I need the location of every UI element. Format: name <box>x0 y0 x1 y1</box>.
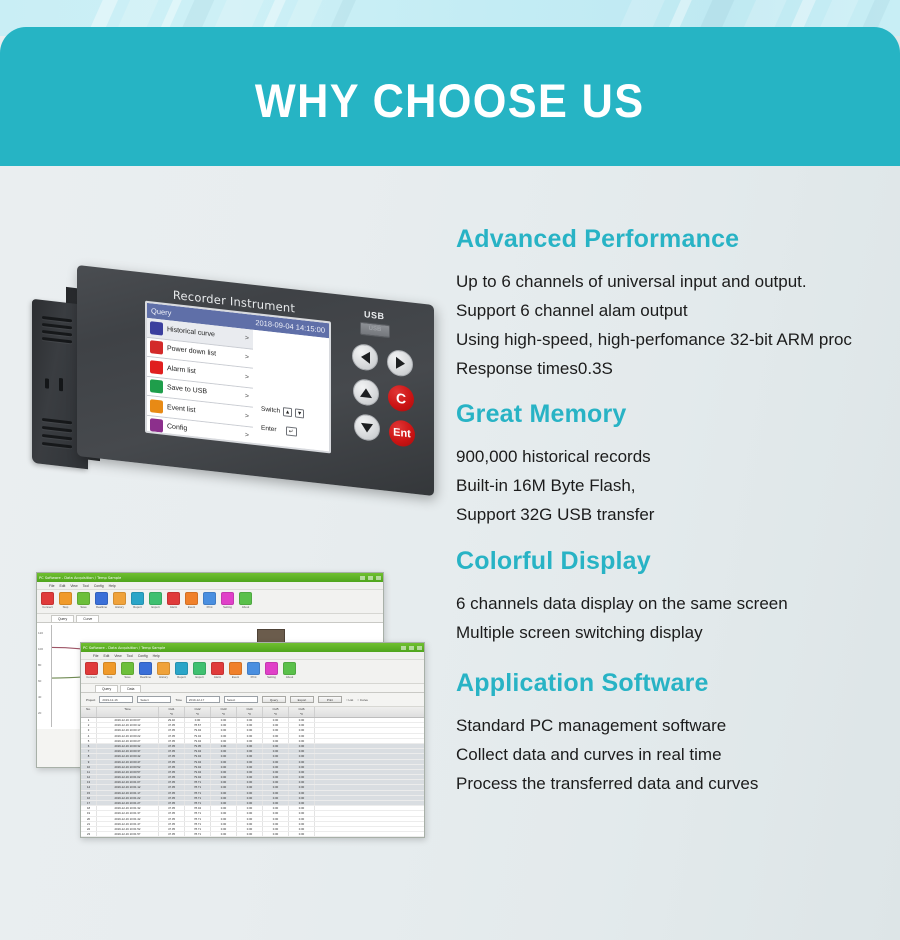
feature-line: Multiple screen switching display <box>456 618 886 647</box>
data-grid-cell: 0.00 <box>237 760 263 764</box>
vent-slot <box>42 337 72 343</box>
vent-slot <box>42 418 72 424</box>
filter-label: Time <box>175 698 182 702</box>
toolbar-button-setting[interactable]: Setting <box>220 592 235 610</box>
lcd-hint-enter-label: Enter <box>261 425 277 434</box>
grid-column-header[interactable]: No. <box>81 707 97 717</box>
toolbar-button-save[interactable]: Save <box>120 662 135 680</box>
data-grid-cell: 2019-12-16 10:01:27 <box>97 801 159 805</box>
report-icon <box>131 592 144 605</box>
data-grid-cell: 0.00 <box>211 801 237 805</box>
data-grid-cell: 0.00 <box>263 832 289 836</box>
device-front-panel: Recorder Instrument USB USB Query 2018-0… <box>77 265 434 496</box>
data-grid-cell: 0.00 <box>263 806 289 810</box>
data-grid-cell: 0.00 <box>289 832 315 836</box>
data-grid-cell: 47.05 <box>159 734 185 738</box>
data-grid-cell: 2019-12-16 10:01:07 <box>97 780 159 784</box>
device-port <box>59 378 63 391</box>
cancel-button-label: C <box>396 390 406 407</box>
data-grid-cell: 0.00 <box>289 749 315 753</box>
data-grid-cell: 0.00 <box>263 770 289 774</box>
data-grid-cell: 0.00 <box>237 796 263 800</box>
data-grid-cell: 47.05 <box>159 749 185 753</box>
data-grid-cell: 5 <box>81 739 97 743</box>
right-arrow-icon <box>396 357 405 370</box>
toolbar-button-label: Alarm <box>210 675 225 680</box>
filter-button-export[interactable]: Export <box>290 696 314 703</box>
usb-label: USB <box>364 309 385 321</box>
data-grid-cell: 0.00 <box>289 785 315 789</box>
stop-icon <box>59 592 72 605</box>
data-grid-cell: 0.00 <box>289 775 315 779</box>
data-grid-cell: 11 <box>81 770 97 774</box>
data-grid-cell: 47.05 <box>159 765 185 769</box>
tab-curve[interactable]: Curve <box>76 615 99 622</box>
key-enter: ↵ <box>286 426 297 436</box>
menu-item-config[interactable]: Config <box>94 584 104 588</box>
menu-item-help[interactable]: Help <box>153 654 160 658</box>
toolbar-button-label: Report <box>174 675 189 680</box>
vent-slot <box>42 316 72 322</box>
grid-column-header[interactable]: CH6℃ <box>289 707 315 717</box>
data-grid-cell: 0.00 <box>289 822 315 826</box>
data-grid-cell: 0.00 <box>289 791 315 795</box>
up-arrow-icon <box>360 387 372 397</box>
recorder-device-image: Recorder Instrument USB USB Query 2018-0… <box>22 283 434 483</box>
grid-column-header[interactable]: CH4℃ <box>237 707 263 717</box>
lcd-hint-switch: Switch ▲ ▼ <box>261 405 304 419</box>
toolbar-button-connect[interactable]: Connect <box>84 662 99 680</box>
left-arrow-icon <box>361 351 370 364</box>
feature-line: Response times0.3S <box>456 354 886 383</box>
toolbar-button-label: Report <box>130 605 145 610</box>
tab-query[interactable]: Query <box>51 615 74 622</box>
key-up: ▲ <box>283 407 292 417</box>
toolbar-button-report[interactable]: Report <box>130 592 145 610</box>
data-grid-cell: 0.00 <box>289 739 315 743</box>
window-toolbar[interactable]: ConnectStopSaveRealtimeHistoryReportExpo… <box>37 590 383 614</box>
minimize-icon[interactable] <box>360 576 365 580</box>
grid-column-header[interactable]: CH3℃ <box>211 707 237 717</box>
data-grid-cell: 0.00 <box>263 739 289 743</box>
data-grid-cell: 47.05 <box>159 801 185 805</box>
toolbar-button-realtime[interactable]: Realtime <box>94 592 109 610</box>
toolbar-button-history[interactable]: History <box>156 662 171 680</box>
data-grid-cell: 0.00 <box>237 785 263 789</box>
data-grid-cell: 0.00 <box>263 822 289 826</box>
data-grid-cell: 0.00 <box>211 806 237 810</box>
data-grid-cell: 0.00 <box>211 749 237 753</box>
lcd-menu-item-label: Power down list <box>167 345 245 361</box>
data-grid-cell: 20 <box>81 817 97 821</box>
data-grid-cell: 79.04 <box>185 770 211 774</box>
filter-select[interactable]: Select <box>224 696 258 703</box>
data-grid-cell: 78.71 <box>185 780 211 784</box>
data-grid-cell: 0.00 <box>237 718 263 722</box>
data-grid-cell: 0.00 <box>289 754 315 758</box>
lcd-body: Historical curve>Power down list>Alarm l… <box>147 318 329 454</box>
right-arrow-button[interactable] <box>387 349 413 378</box>
minimize-icon[interactable] <box>401 646 406 650</box>
window-tabs[interactable]: QueryData <box>81 684 424 693</box>
toolbar-button-export[interactable]: Export <box>148 592 163 610</box>
data-grid-cell: 2019-12-16 10:02:02 <box>97 837 159 838</box>
feature-block-colorful-display: Colorful Display 6 channels data display… <box>456 547 886 647</box>
data-grid-cell: 0.00 <box>211 822 237 826</box>
data-grid-cell: 0.00 <box>263 718 289 722</box>
up-arrow-button[interactable] <box>353 378 379 407</box>
toolbar-button-label: Print <box>202 605 217 610</box>
data-grid-cell: 0.00 <box>289 780 315 784</box>
data-grid-cell: 0.00 <box>237 827 263 831</box>
query-filter-bar[interactable]: Project2019-12-16SelectTime2019-12-17Sel… <box>81 693 424 707</box>
toolbar-button-label: Stop <box>102 675 117 680</box>
toolbar-button-label: About <box>238 605 253 610</box>
data-grid-cell: 0.00 <box>211 817 237 821</box>
data-grid-cell: 0.00 <box>263 827 289 831</box>
data-grid-cell: 0.00 <box>211 791 237 795</box>
data-grid-cell: 0.00 <box>211 811 237 815</box>
toolbar-button-label: Setting <box>220 605 235 610</box>
data-grid-cell: 0.00 <box>263 785 289 789</box>
down-arrow-button[interactable] <box>354 413 380 442</box>
data-grid-cell: 79.04 <box>185 775 211 779</box>
data-grid-cell: 0.00 <box>211 775 237 779</box>
feature-title: Application Software <box>456 669 886 698</box>
data-grid-cell: 79.05 <box>185 744 211 748</box>
feature-line: Built-in 16M Byte Flash, <box>456 471 886 500</box>
lcd-menu-item-label: Alarm list <box>167 365 245 381</box>
data-grid-cell: 47.05 <box>159 775 185 779</box>
window-tabs[interactable]: QueryCurve <box>37 614 383 623</box>
data-grid-cell: 0.00 <box>237 744 263 748</box>
data-grid-cell: 47.05 <box>159 760 185 764</box>
toolbar-button-label: Print <box>246 675 261 680</box>
data-grid-cell: 2019-12-16 10:00:22 <box>97 734 159 738</box>
menu-item-file[interactable]: File <box>49 584 54 588</box>
software-screenshots: PC Software - Data Acquisition / Temp Sa… <box>36 572 426 840</box>
data-grid-cell: 29.40 <box>159 718 185 722</box>
data-grid-cell: 0.00 <box>237 791 263 795</box>
data-grid-header: No.TimeCH1℃CH2℃CH3℃CH4℃CH5℃CH6℃ <box>81 707 424 718</box>
filter-button-query[interactable]: Query <box>262 696 286 703</box>
data-grid-row[interactable]: 242019-12-16 10:02:0247.0578.710.000.000… <box>81 837 424 838</box>
close-icon[interactable] <box>417 646 422 650</box>
enter-button[interactable]: Ent <box>389 419 415 448</box>
chart-y-tick: 60 <box>38 679 41 683</box>
data-grid-cell: 13 <box>81 780 97 784</box>
data-grid-cell: 0.00 <box>237 780 263 784</box>
toolbar-button-print[interactable]: Print <box>202 592 217 610</box>
data-grid-cell: 47.05 <box>159 837 185 838</box>
filter-select[interactable]: 2019-12-16 <box>99 696 133 703</box>
data-grid-cell: 0.00 <box>211 780 237 784</box>
menu-item-view[interactable]: View <box>70 584 77 588</box>
chart-y-axis: 12010080604020 <box>37 623 50 729</box>
history-icon <box>157 662 170 675</box>
save-icon <box>121 662 134 675</box>
data-grid-body[interactable]: 12019-12-16 10:00:0729.400.000.000.000.0… <box>81 718 424 838</box>
lcd-menu-item-label: Historical curve <box>167 326 245 342</box>
data-grid-cell: 0.00 <box>237 754 263 758</box>
toolbar-button-setting[interactable]: Setting <box>264 662 279 680</box>
window-titlebar: PC Software - Data Acquisition / Temp Sa… <box>81 643 424 652</box>
lcd-menu-list: Historical curve>Power down list>Alarm l… <box>147 318 253 447</box>
data-grid-cell: 0.00 <box>237 822 263 826</box>
data-grid-cell: 19 <box>81 811 97 815</box>
data-grid-cell: 0.00 <box>263 801 289 805</box>
data-grid-cell: 0.00 <box>237 749 263 753</box>
data-grid-cell: 0.00 <box>211 837 237 838</box>
toolbar-button-realtime[interactable]: Realtime <box>138 662 153 680</box>
window-controls[interactable] <box>401 646 422 650</box>
lcd-menu-item-label: Save to USB <box>167 384 245 400</box>
data-grid-cell: 0.00 <box>263 723 289 727</box>
data-grid-cell: 79.04 <box>185 765 211 769</box>
data-grid-cell: 78.71 <box>185 827 211 831</box>
data-grid-cell: 0.00 <box>211 739 237 743</box>
data-grid-cell: 47.05 <box>159 744 185 748</box>
data-grid-cell: 17 <box>81 801 97 805</box>
alarm-icon <box>167 592 180 605</box>
toolbar-button-label: Alarm <box>166 605 181 610</box>
event-icon <box>185 592 198 605</box>
grid-column-header[interactable]: CH2℃ <box>185 707 211 717</box>
data-grid-cell: 79.04 <box>185 734 211 738</box>
data-grid-cell: 1 <box>81 718 97 722</box>
window-toolbar[interactable]: ConnectStopSaveRealtimeHistoryReportExpo… <box>81 660 424 684</box>
data-grid-cell: 47.05 <box>159 785 185 789</box>
menu-item-view[interactable]: View <box>114 654 121 658</box>
data-grid-cell: 2019-12-16 10:01:37 <box>97 811 159 815</box>
filter-select[interactable]: Select <box>137 696 171 703</box>
chevron-right-icon: > <box>245 432 253 440</box>
data-grid-cell: 2019-12-16 10:00:07 <box>97 718 159 722</box>
menu-item-edit[interactable]: Edit <box>59 584 65 588</box>
data-grid-cell: 3 <box>81 728 97 732</box>
toolbar-button-export[interactable]: Export <box>192 662 207 680</box>
grid-column-header[interactable]: Time <box>97 707 159 717</box>
toolbar-button-about[interactable]: About <box>282 662 297 680</box>
data-grid-cell: 0.00 <box>263 754 289 758</box>
data-grid-cell: 23 <box>81 832 97 836</box>
data-grid-cell: 15 <box>81 791 97 795</box>
export-icon <box>149 592 162 605</box>
data-grid-cell: 47.05 <box>159 754 185 758</box>
feature-title: Great Memory <box>456 400 886 429</box>
chart-y-tick: 40 <box>38 695 41 699</box>
feature-line: Support 6 channel alam output <box>456 296 886 325</box>
print-icon <box>247 662 260 675</box>
data-grid-cell: 0.00 <box>211 754 237 758</box>
data-grid-cell: 0.00 <box>237 775 263 779</box>
maximize-icon[interactable] <box>409 646 414 650</box>
grid-column-header[interactable]: CH1℃ <box>159 707 185 717</box>
data-grid-cell: 9 <box>81 760 97 764</box>
toolbar-button-label: Realtime <box>138 675 153 680</box>
menu-item-config[interactable]: Config <box>138 654 148 658</box>
lcd-right-pane: Switch ▲ ▼ Enter ↵ <box>253 330 329 454</box>
page-title: WHY CHOOSE US <box>255 69 645 124</box>
chart-y-tick: 120 <box>38 631 43 635</box>
data-grid-cell: 2019-12-16 10:00:52 <box>97 765 159 769</box>
data-grid-cell: 0.00 <box>263 749 289 753</box>
menu-item-file[interactable]: File <box>93 654 98 658</box>
window-title: PC Software - Data Acquisition / Temp Sa… <box>39 576 121 580</box>
data-grid-cell: 2019-12-16 10:00:32 <box>97 744 159 748</box>
down-arrow-icon <box>361 422 373 432</box>
toolbar-button-about[interactable]: About <box>238 592 253 610</box>
data-grid-cell: 78.71 <box>185 811 211 815</box>
usb-save-icon <box>150 379 163 393</box>
data-grid-cell: 0.00 <box>237 723 263 727</box>
toolbar-button-label: Save <box>120 675 135 680</box>
device-lcd-screen: Query 2018-09-04 14:15:00 Historical cur… <box>145 301 331 454</box>
window-menubar[interactable]: FileEditViewToolConfigHelp <box>81 652 424 660</box>
toolbar-button-event[interactable]: Event <box>228 662 243 680</box>
data-grid-cell: 0.00 <box>263 760 289 764</box>
vent-slot <box>42 434 72 440</box>
toolbar-button-label: Export <box>192 675 207 680</box>
data-grid-cell: 47.05 <box>159 723 185 727</box>
feature-line: 6 channels data display on the same scre… <box>456 589 886 618</box>
feature-block-application-software: Application Software Standard PC managem… <box>456 669 886 798</box>
menu-item-tool[interactable]: Tool <box>83 584 89 588</box>
toolbar-button-label: Connect <box>84 675 99 680</box>
data-grid-cell: 6 <box>81 744 97 748</box>
cancel-button[interactable]: C <box>388 384 414 413</box>
data-grid-cell: 0.00 <box>237 765 263 769</box>
data-grid-cell: 0.00 <box>211 718 237 722</box>
data-grid-cell: 0.00 <box>263 765 289 769</box>
filter-button-print[interactable]: Print <box>318 696 342 703</box>
menu-item-edit[interactable]: Edit <box>103 654 109 658</box>
toolbar-button-alarm[interactable]: Alarm <box>166 592 181 610</box>
data-grid-cell: 0.00 <box>237 811 263 815</box>
data-grid-cell: 2 <box>81 723 97 727</box>
filter-label: Project <box>86 698 95 702</box>
data-grid-cell: 0.00 <box>263 796 289 800</box>
window-titlebar: PC Software - Data Acquisition / Temp Sa… <box>37 573 383 582</box>
chevron-right-icon: > <box>245 413 253 421</box>
data-grid-cell: 2019-12-16 10:00:57 <box>97 770 159 774</box>
filter-radio-curve[interactable]: ○ Curve <box>357 698 368 702</box>
feature-block-great-memory: Great Memory 900,000 historical records … <box>456 400 886 529</box>
data-grid-cell: 0.00 <box>211 765 237 769</box>
setting-icon <box>265 662 278 675</box>
chevron-right-icon: > <box>245 335 253 343</box>
alarm-icon <box>211 662 224 675</box>
maximize-icon[interactable] <box>368 576 373 580</box>
toolbar-button-alarm[interactable]: Alarm <box>210 662 225 680</box>
left-arrow-button[interactable] <box>352 343 378 372</box>
software-window-data[interactable]: PC Software - Data Acquisition / Temp Sa… <box>80 642 425 838</box>
monitor-icon <box>150 418 163 432</box>
data-grid-cell: 47.05 <box>159 827 185 831</box>
window-menubar[interactable]: FileEditViewToolConfigHelp <box>37 582 383 590</box>
toolbar-button-save[interactable]: Save <box>76 592 91 610</box>
data-grid-cell: 0.00 <box>211 770 237 774</box>
tab-data[interactable]: Data <box>120 685 141 692</box>
feature-line: Standard PC management software <box>456 711 886 740</box>
data-grid-cell: 12 <box>81 775 97 779</box>
grid-column-header[interactable]: CH5℃ <box>263 707 289 717</box>
data-grid-cell: 79.04 <box>185 754 211 758</box>
data-grid-cell: 0.00 <box>289 811 315 815</box>
toolbar-button-report[interactable]: Report <box>174 662 189 680</box>
menu-item-help[interactable]: Help <box>109 584 116 588</box>
bell-icon <box>150 360 163 374</box>
data-grid-cell: 0.00 <box>289 801 315 805</box>
data-grid-cell: 47.05 <box>159 806 185 810</box>
feature-title: Advanced Performance <box>456 225 886 254</box>
data-grid-cell: 78.71 <box>185 791 211 795</box>
toolbar-button-event[interactable]: Event <box>184 592 199 610</box>
lcd-hint-switch-label: Switch <box>261 406 280 415</box>
data-grid-cell: 0.00 <box>289 734 315 738</box>
data-grid-cell: 0.00 <box>289 744 315 748</box>
usb-port[interactable]: USB <box>360 322 390 338</box>
data-grid-cell: 0.00 <box>289 806 315 810</box>
data-grid-cell: 78.71 <box>185 832 211 836</box>
data-grid-cell: 0.00 <box>289 770 315 774</box>
data-grid-cell: 0.00 <box>211 723 237 727</box>
menu-item-tool[interactable]: Tool <box>127 654 133 658</box>
toolbar-button-label: Stop <box>58 605 73 610</box>
data-grid-cell: 47.05 <box>159 817 185 821</box>
data-grid-cell: 0.00 <box>263 811 289 815</box>
data-grid-cell: 0.00 <box>237 728 263 732</box>
toolbar-button-stop[interactable]: Stop <box>102 662 117 680</box>
lcd-menu-item-label: Event list <box>167 404 245 420</box>
data-grid-cell: 47.05 <box>159 811 185 815</box>
data-grid-cell: 0.00 <box>237 801 263 805</box>
data-grid-cell: 2019-12-16 10:00:47 <box>97 760 159 764</box>
close-icon[interactable] <box>376 576 381 580</box>
data-grid-cell: 0.00 <box>263 728 289 732</box>
filter-radio-list[interactable]: ○ List <box>346 698 353 702</box>
data-grid-cell: 2019-12-16 10:00:17 <box>97 728 159 732</box>
toolbar-button-connect[interactable]: Connect <box>40 592 55 610</box>
data-grid-cell: 2019-12-16 10:00:37 <box>97 749 159 753</box>
print-icon <box>203 592 216 605</box>
export-icon <box>193 662 206 675</box>
lcd-hint-enter: Enter ↵ <box>261 424 297 437</box>
data-grid-cell: 8 <box>81 754 97 758</box>
data-grid-cell: 0.00 <box>211 760 237 764</box>
data-grid-cell: 24 <box>81 837 97 838</box>
toolbar-button-stop[interactable]: Stop <box>58 592 73 610</box>
connect-icon <box>41 592 54 605</box>
toolbar-button-print[interactable]: Print <box>246 662 261 680</box>
data-grid-cell: 47.05 <box>159 739 185 743</box>
feature-line: Support 32G USB transfer <box>456 500 886 529</box>
feature-line: Up to 6 channels of universal input and … <box>456 267 886 296</box>
data-grid-cell: 0.00 <box>237 739 263 743</box>
toolbar-button-history[interactable]: History <box>112 592 127 610</box>
data-grid-cell: 2019-12-16 10:01:47 <box>97 822 159 826</box>
window-controls[interactable] <box>360 576 381 580</box>
filter-select[interactable]: 2019-12-17 <box>186 696 220 703</box>
tab-query[interactable]: Query <box>95 685 118 692</box>
lcd-header-title: Query <box>151 306 171 317</box>
data-grid-cell: 0.00 <box>289 718 315 722</box>
data-grid-cell: 47.05 <box>159 780 185 784</box>
data-grid-cell: 0.00 <box>211 827 237 831</box>
data-grid-cell: 2019-12-16 10:01:57 <box>97 832 159 836</box>
data-grid-cell: 16 <box>81 796 97 800</box>
data-grid-cell: 0.00 <box>211 734 237 738</box>
